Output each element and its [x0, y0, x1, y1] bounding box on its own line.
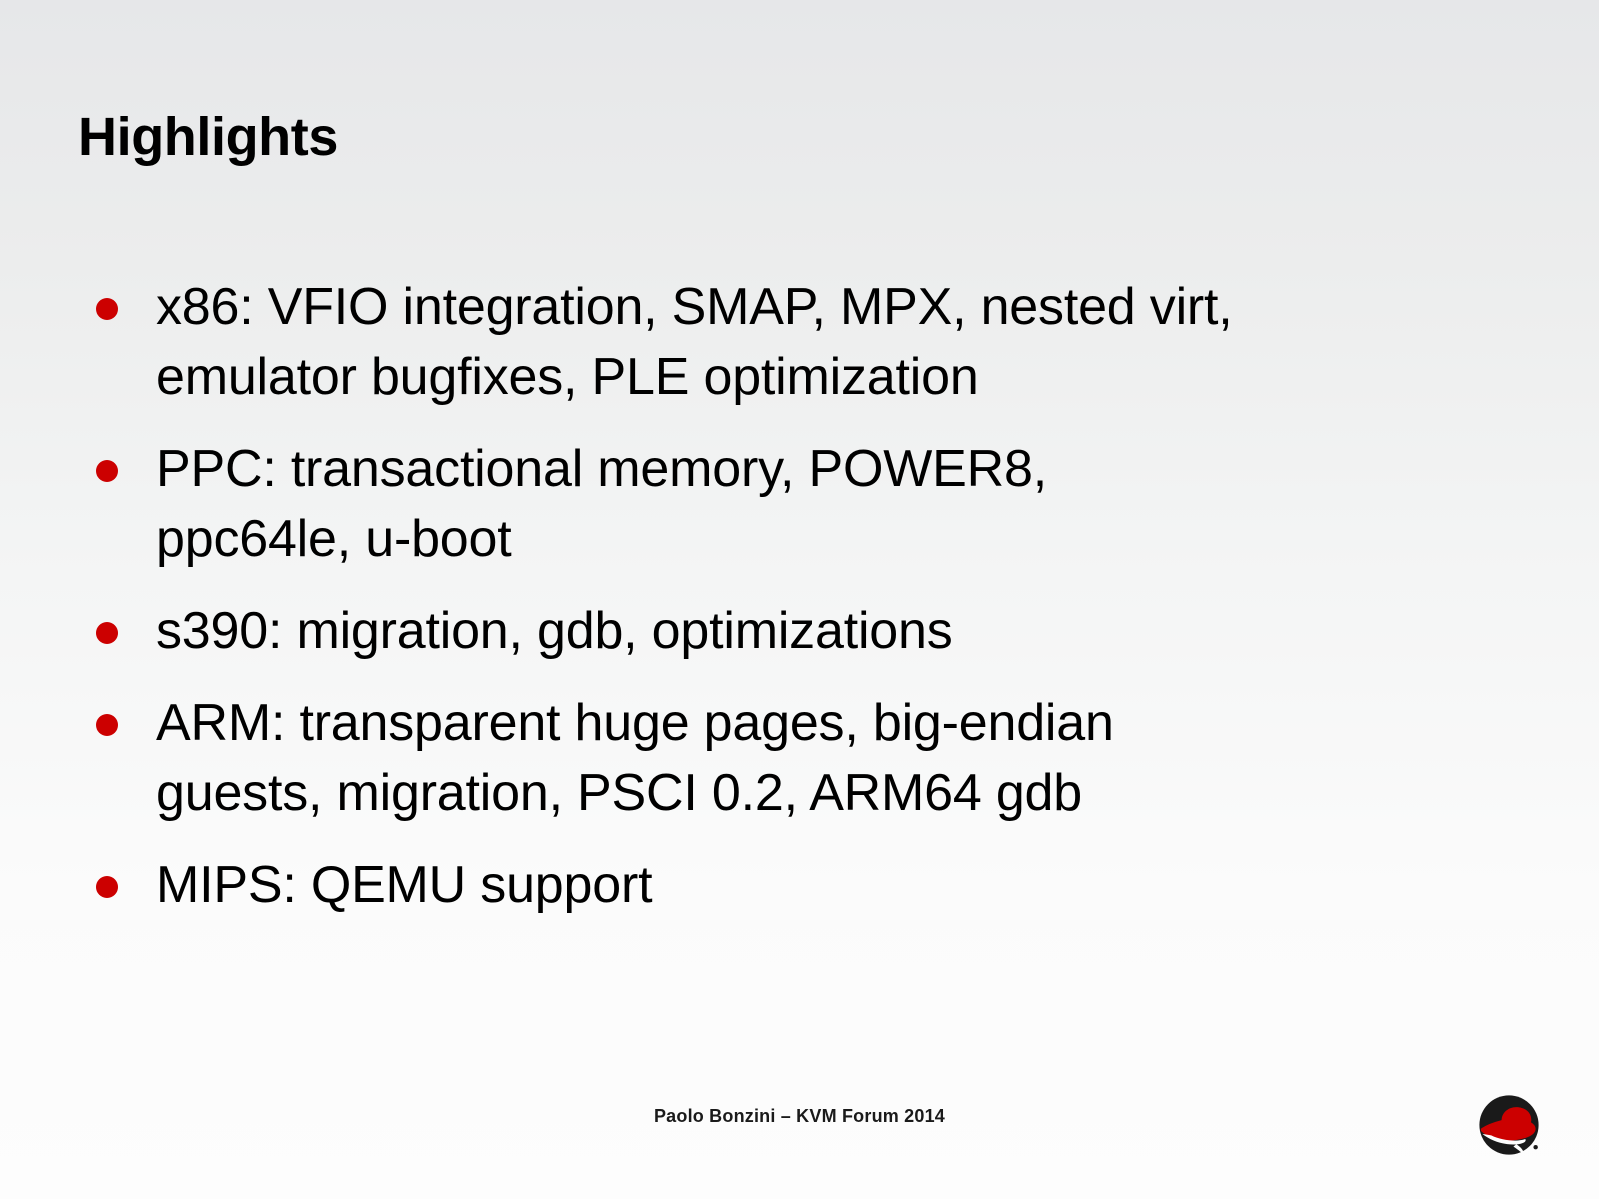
list-item: PPC: transactional memory, POWER8, ppc64…	[96, 434, 1516, 574]
disc-bullet-icon	[96, 622, 118, 644]
list-item: x86: VFIO integration, SMAP, MPX, nested…	[96, 272, 1516, 412]
slide-canvas: Highlights x86: VFIO integration, SMAP, …	[0, 0, 1599, 1199]
highlights-bullet-list: x86: VFIO integration, SMAP, MPX, nested…	[96, 272, 1516, 942]
list-item-line: MIPS: QEMU support	[156, 850, 1516, 920]
list-item: MIPS: QEMU support	[96, 850, 1516, 920]
list-item-line: x86: VFIO integration, SMAP, MPX, nested…	[156, 272, 1516, 342]
disc-bullet-icon	[96, 298, 118, 320]
footer-credit: Paolo Bonzini – KVM Forum 2014	[0, 1106, 1599, 1127]
list-item-text: ARM: transparent huge pages, big-endian …	[156, 688, 1516, 828]
list-item-text: PPC: transactional memory, POWER8, ppc64…	[156, 434, 1516, 574]
list-item-text: s390: migration, gdb, optimizations	[156, 596, 1516, 666]
disc-bullet-icon	[96, 460, 118, 482]
list-item-line: ppc64le, u-boot	[156, 504, 1516, 574]
list-item-line: PPC: transactional memory, POWER8,	[156, 434, 1516, 504]
list-item-line: emulator bugfixes, PLE optimization	[156, 342, 1516, 412]
disc-bullet-icon	[96, 714, 118, 736]
list-item: s390: migration, gdb, optimizations	[96, 596, 1516, 666]
red-hat-shadowman-logo	[1472, 1088, 1546, 1162]
list-item: ARM: transparent huge pages, big-endian …	[96, 688, 1516, 828]
page-title: Highlights	[78, 108, 338, 167]
list-item-line: ARM: transparent huge pages, big-endian	[156, 688, 1516, 758]
list-item-text: x86: VFIO integration, SMAP, MPX, nested…	[156, 272, 1516, 412]
disc-bullet-icon	[96, 876, 118, 898]
list-item-text: MIPS: QEMU support	[156, 850, 1516, 920]
list-item-line: s390: migration, gdb, optimizations	[156, 596, 1516, 666]
list-item-line: guests, migration, PSCI 0.2, ARM64 gdb	[156, 758, 1516, 828]
